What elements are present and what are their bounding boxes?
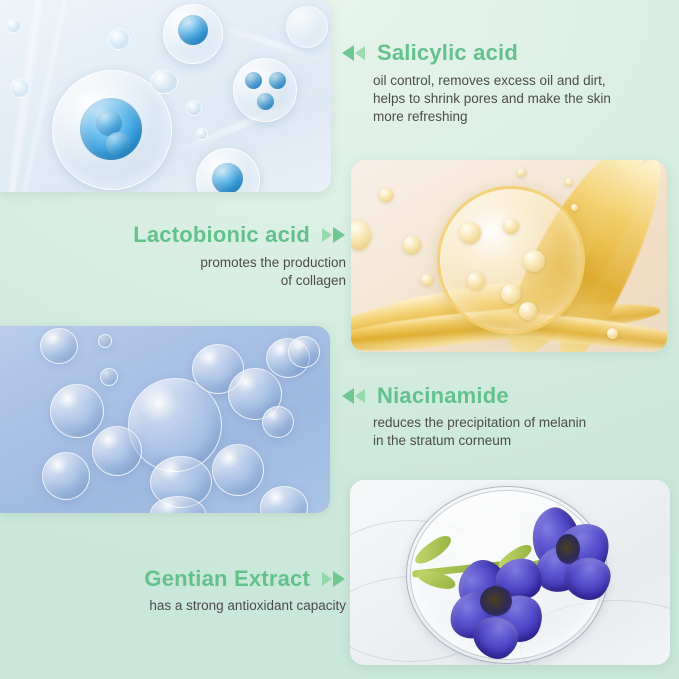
ingredient-description: has a strong antioxidant capacity: [46, 597, 346, 615]
arrow-left-icon: [341, 387, 367, 405]
ingredient-block-gentian-extract: Gentian Extract has a strong antioxidant…: [46, 566, 346, 615]
arrow-left-icon: [341, 44, 367, 62]
ingredient-description: oil control, removes excess oil and dirt…: [373, 72, 663, 125]
arrow-right-icon: [320, 570, 346, 588]
ingredient-description: reduces the precipitation of melanin in …: [373, 414, 663, 450]
ingredient-block-salicylic-acid: Salicylic acid oil control, removes exce…: [373, 40, 663, 126]
ingredient-name: Salicylic acid: [377, 40, 518, 65]
image-panel-niacinamide: [0, 326, 330, 513]
image-panel-gentian-extract: [350, 480, 670, 665]
ingredient-name: Gentian Extract: [144, 566, 310, 591]
arrow-right-icon: [320, 226, 346, 244]
ingredient-infographic: Salicylic acid oil control, removes exce…: [0, 0, 679, 679]
ingredient-name: Niacinamide: [377, 383, 509, 408]
image-panel-salicylic-acid: [0, 0, 331, 192]
ingredient-block-lactobionic-acid: Lactobionic acid promotes the production…: [56, 222, 346, 290]
ingredient-name: Lactobionic acid: [133, 222, 310, 247]
ingredient-description: promotes the production of collagen: [56, 254, 346, 290]
ingredient-block-niacinamide: Niacinamide reduces the precipitation of…: [373, 383, 663, 450]
image-panel-lactobionic-acid: [351, 160, 667, 352]
